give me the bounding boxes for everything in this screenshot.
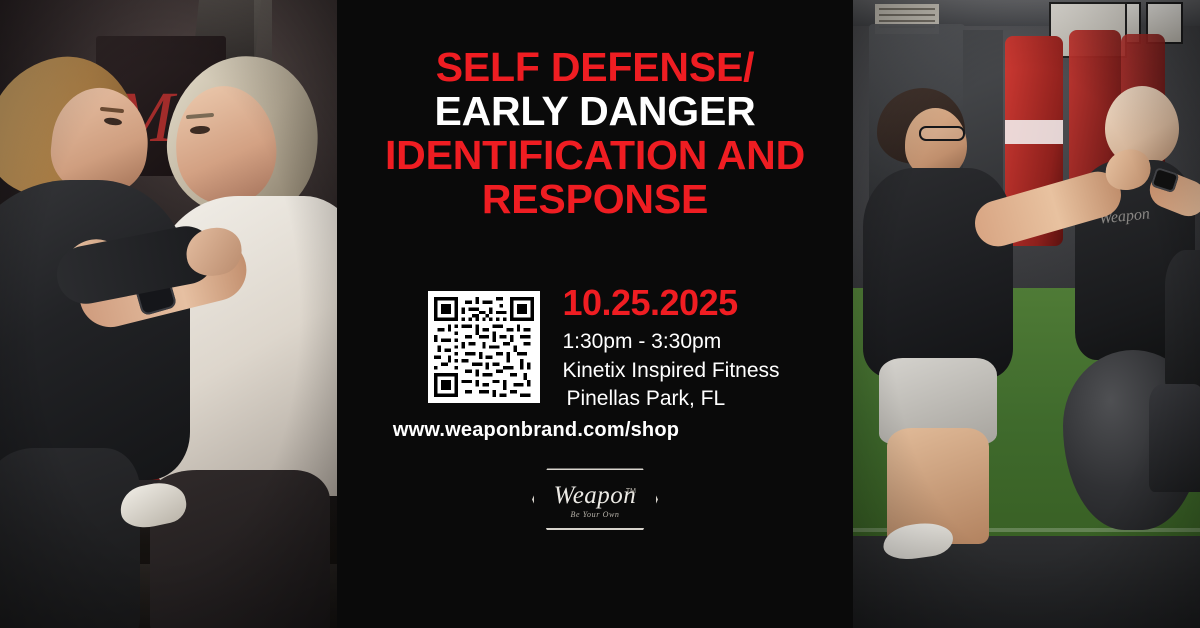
logo-wordmark: Weapon — [532, 482, 658, 510]
weapon-logo: Weapon TM Be Your Own — [532, 468, 658, 530]
qr-code[interactable] — [428, 291, 540, 403]
kneeling-participant-leg — [1149, 384, 1200, 492]
headline: SELF DEFENSE/ EARLY DANGER IDENTIFICATIO… — [337, 46, 853, 221]
trademark-mark: TM — [626, 488, 636, 495]
event-poster: M SELF DEFENSE/ EARLY DANGER IDENTIFICAT… — [0, 0, 1200, 628]
partner-legs — [0, 448, 140, 628]
event-details: 10.25.2025 1:30pm - 3:30pm Kinetix Inspi… — [562, 285, 779, 413]
headline-line-1: SELF DEFENSE/ — [337, 46, 853, 90]
instructor-torso — [863, 168, 1013, 378]
partner-torso — [0, 180, 190, 480]
right-photo: Weapon — [853, 0, 1200, 628]
headline-line-4: RESPONSE — [337, 178, 853, 222]
headline-line-2: EARLY DANGER — [337, 90, 853, 134]
event-venue: Kinetix Inspired Fitness — [562, 357, 779, 385]
event-date: 10.25.2025 — [562, 285, 779, 321]
kneeling-participant-torso — [1165, 250, 1200, 400]
glasses-icon — [919, 126, 965, 141]
bag-label-band — [1005, 120, 1063, 144]
website-url[interactable]: www.weaponbrand.com/shop — [314, 419, 758, 442]
left-photo: M — [0, 0, 337, 628]
event-city: Pinellas Park, FL — [562, 385, 779, 413]
headline-line-3: IDENTIFICATION AND — [337, 134, 853, 178]
center-panel: SELF DEFENSE/ EARLY DANGER IDENTIFICATIO… — [337, 0, 853, 628]
event-info: 10.25.2025 1:30pm - 3:30pm Kinetix Inspi… — [410, 285, 779, 413]
event-time: 1:30pm - 3:30pm — [562, 328, 779, 356]
logo-tagline: Be Your Own — [532, 510, 658, 519]
